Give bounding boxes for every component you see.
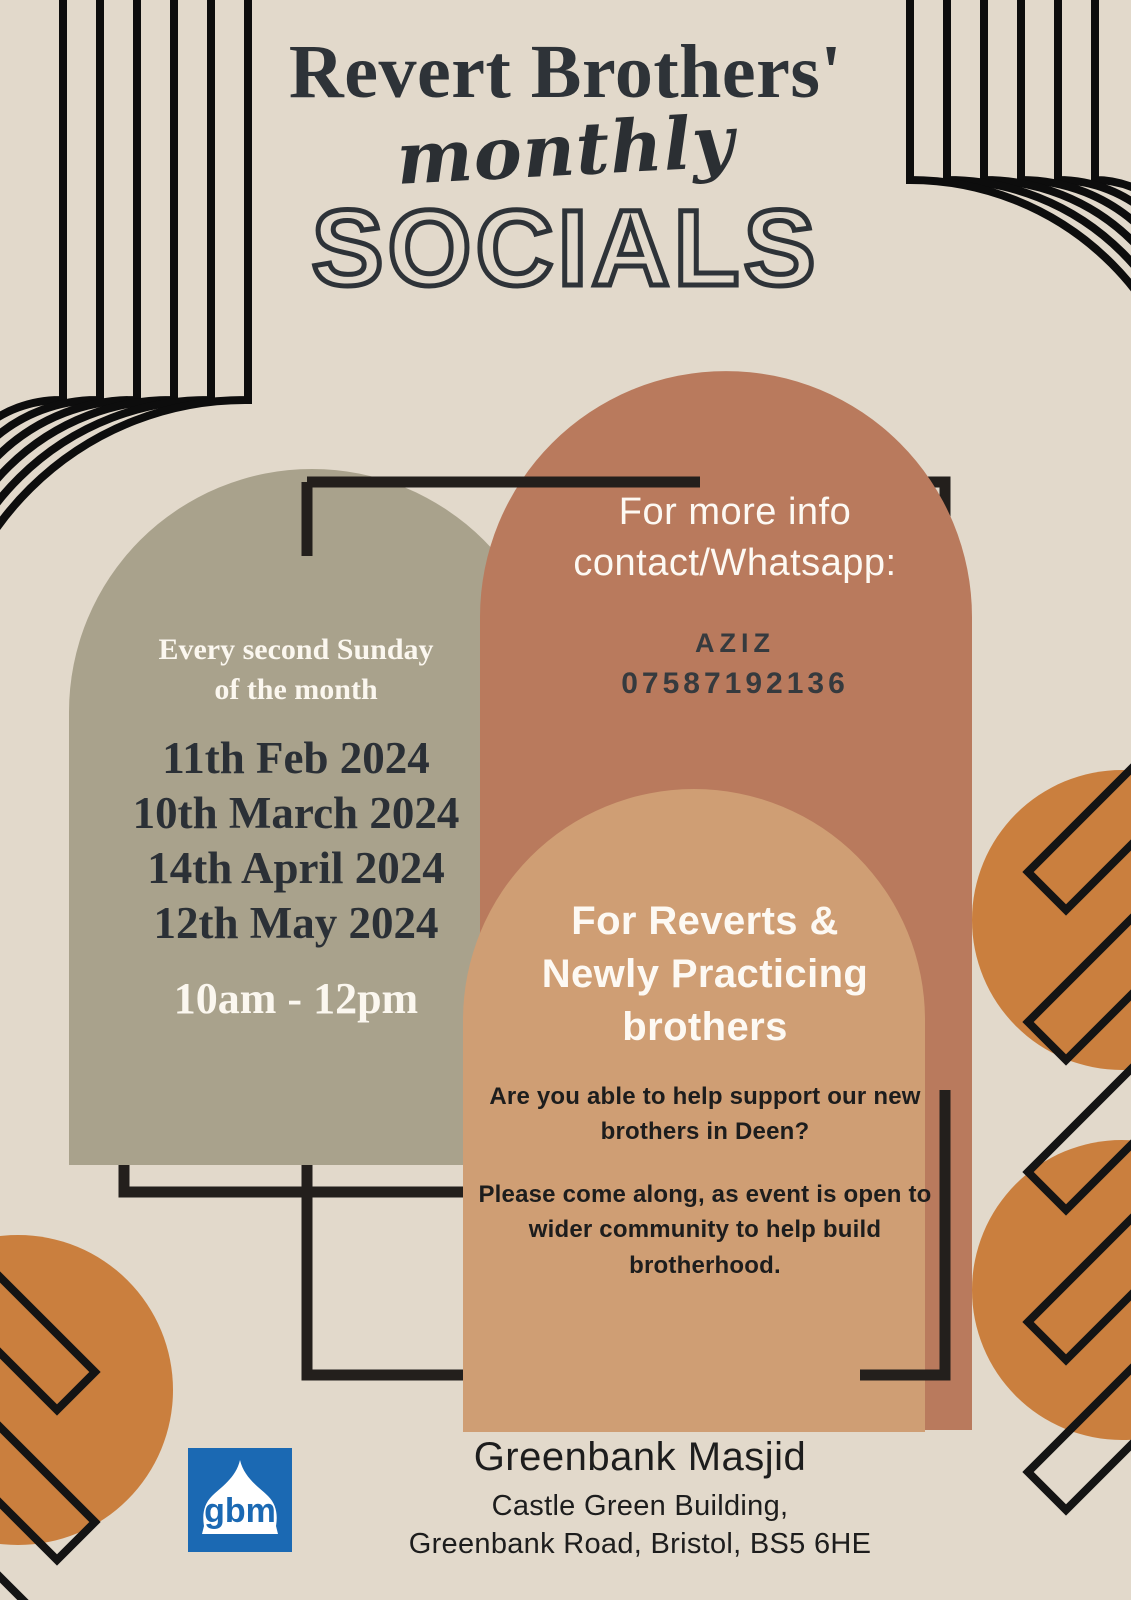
audience-heading-line-2: Newly Practicing [470, 948, 940, 1001]
schedule-block: Every second Sunday of the month 11th Fe… [86, 630, 506, 1023]
logo-subtext: bristol [237, 1525, 266, 1537]
audience-heading-line-3: brothers [470, 1001, 940, 1054]
contact-heading-line-1: For more info [500, 487, 970, 538]
gbm-logo: gbm bristol [188, 1448, 292, 1552]
schedule-heading-line-2: of the month [86, 670, 506, 710]
schedule-date: 14th April 2024 [86, 841, 506, 896]
poster-title: Revert Brothers' monthly SOCIALS [0, 34, 1131, 302]
audience-body: Are you able to help support our new bro… [470, 1079, 940, 1282]
contact-person-name: AZIZ [500, 624, 970, 663]
schedule-date: 10th March 2024 [86, 786, 506, 841]
schedule-time: 10am - 12pm [86, 975, 506, 1023]
venue-name: Greenbank Masjid [320, 1434, 960, 1481]
schedule-date-list: 11th Feb 2024 10th March 2024 14th April… [86, 731, 506, 951]
footer-block: gbm bristol Greenbank Masjid Castle Gree… [0, 1424, 1131, 1600]
venue-address-line-2: Greenbank Road, Bristol, BS5 6HE [320, 1525, 960, 1563]
audience-heading-line-1: For Reverts & [470, 895, 940, 948]
schedule-heading-line-1: Every second Sunday [86, 630, 506, 670]
venue-details: Greenbank Masjid Castle Green Building, … [320, 1434, 960, 1564]
schedule-date: 11th Feb 2024 [86, 731, 506, 786]
audience-paragraph-2: Please come along, as event is open to w… [470, 1177, 940, 1282]
contact-heading-line-2: contact/Whatsapp: [500, 538, 970, 589]
title-outline-word: SOCIALS [0, 194, 1131, 302]
audience-paragraph-1: Are you able to help support our new bro… [470, 1079, 940, 1149]
schedule-date: 12th May 2024 [86, 896, 506, 951]
poster-canvas: Revert Brothers' monthly SOCIALS Every s… [0, 0, 1131, 1600]
audience-block: For Reverts & Newly Practicing brothers … [470, 895, 940, 1283]
venue-address-line-1: Castle Green Building, [320, 1487, 960, 1525]
contact-block: For more info contact/Whatsapp: AZIZ 075… [500, 487, 970, 705]
contact-phone-number[interactable]: 07587192136 [500, 663, 970, 705]
